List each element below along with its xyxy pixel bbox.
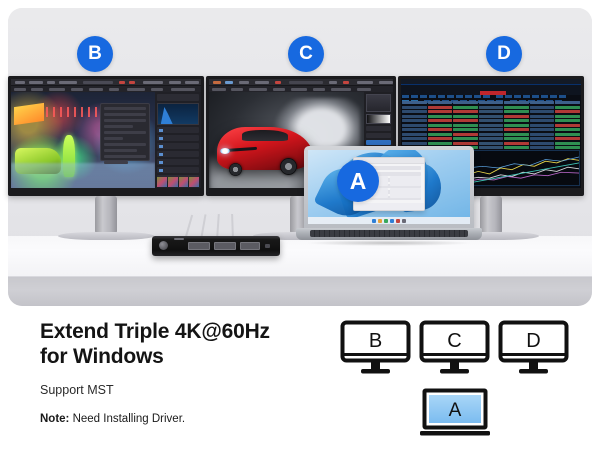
diagram-monitor-c-label: C — [447, 330, 461, 352]
feature-title-line-2: for Windows — [40, 345, 340, 370]
laptop — [296, 146, 482, 246]
monitor-icon: B — [340, 320, 411, 378]
diagram-monitor-row: B C D — [340, 320, 570, 378]
render-car-wheel-front — [229, 163, 242, 176]
monitor-b-asset-thumbnails — [157, 177, 199, 188]
callout-badge-d: D — [486, 36, 522, 72]
windows-taskbar[interactable] — [308, 217, 470, 224]
callout-badge-b: B — [77, 36, 113, 72]
terminal-alert-button[interactable] — [480, 91, 506, 95]
render-car-headlight — [220, 148, 230, 154]
feature-copy: Extend Triple 4K@60Hz for Windows Suppor… — [40, 320, 340, 425]
laptop-lid — [304, 146, 474, 230]
scene-banner — [14, 103, 44, 125]
monitor-icon: C — [419, 320, 490, 378]
diagram-laptop-a: A — [418, 388, 492, 438]
monitor-b-curve-graph — [157, 103, 199, 125]
diagram-monitor-c: C — [419, 320, 490, 378]
feature-note-text: Need Installing Driver. — [69, 413, 185, 425]
display-layout-diagram: B C D — [340, 320, 570, 440]
feature-note-label: Note: — [40, 413, 69, 425]
monitor-b-properties-panel — [155, 92, 201, 188]
dock-display-port-2 — [214, 242, 236, 250]
dock-display-port-1 — [188, 242, 210, 250]
diagram-monitor-d-label: D — [526, 330, 540, 352]
laptop-keyboard — [310, 230, 468, 237]
monitor-b — [8, 76, 204, 196]
photo-desk-front-edge — [8, 276, 592, 306]
feature-title: Extend Triple 4K@60Hz for Windows — [40, 320, 340, 370]
docking-station — [152, 236, 280, 256]
feature-title-line-1: Extend Triple 4K@60Hz — [40, 320, 340, 345]
product-feature-card: B C D A Extend Triple 4K@60Hz for Window… — [0, 0, 600, 450]
dock-usb-c-port — [265, 244, 270, 248]
diagram-monitor-d: D — [498, 320, 569, 378]
diagram-monitor-b: B — [340, 320, 411, 378]
gradient-swatch — [366, 114, 391, 124]
monitor-b-floating-dialog — [100, 103, 149, 161]
feature-subtitle: Support MST — [40, 383, 340, 397]
monitor-icon: D — [498, 320, 569, 378]
diagram-monitor-b-label: B — [369, 330, 382, 352]
dock-display-port-3 — [240, 242, 260, 250]
laptop-icon: A — [418, 388, 492, 438]
monitor-b-bezel — [8, 76, 204, 196]
settings-window-footer — [354, 203, 423, 210]
laptop-screen — [308, 150, 470, 224]
diagram-laptop-a-label: A — [449, 400, 462, 421]
monitor-c-app-toolbar — [209, 79, 393, 86]
feature-note: Note: Need Installing Driver. — [40, 413, 340, 425]
monitor-b-app-toolbar — [11, 79, 201, 86]
callout-badge-c: C — [288, 36, 324, 72]
dock-power-button[interactable] — [159, 241, 168, 250]
terminal-line-chart — [466, 150, 580, 186]
monitor-b-screen — [11, 79, 201, 188]
laptop-shadow — [306, 240, 472, 246]
scene-wet-ground — [11, 163, 155, 188]
callout-badge-a: A — [337, 160, 379, 202]
material-preview — [366, 94, 391, 112]
